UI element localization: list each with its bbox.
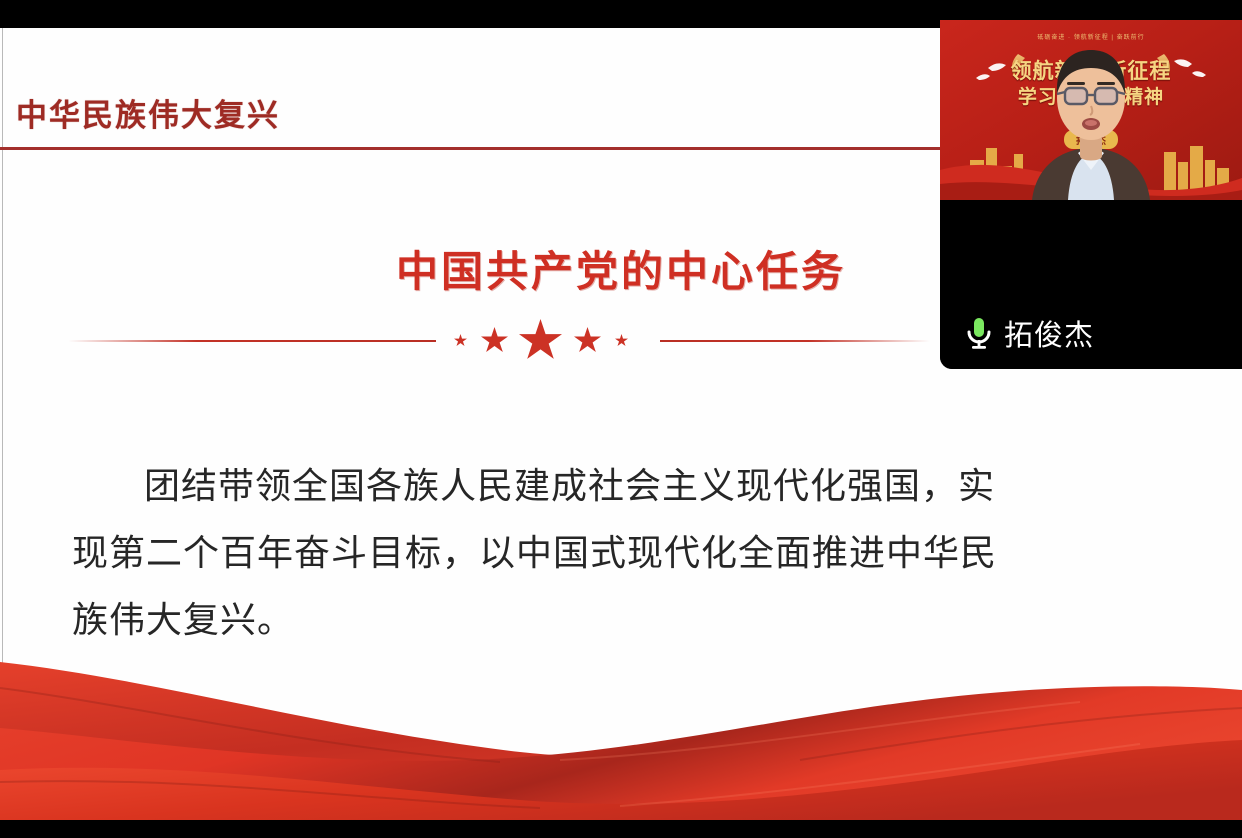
- divider-star-4: [574, 327, 601, 354]
- divider-star-5: [615, 334, 628, 347]
- video-feed: 砥砺奋进 · 领航新征程 | 奋跃前行 领航新 进新征程 学习贯 十大精神 拓俊…: [940, 20, 1242, 200]
- divider-line-right: [660, 340, 930, 342]
- microphone-active-icon[interactable]: [966, 316, 992, 350]
- participant-video-tile[interactable]: 砥砺奋进 · 领航新征程 | 奋跃前行 领航新 进新征程 学习贯 十大精神 拓俊…: [940, 0, 1242, 369]
- divider-star-3: [519, 319, 562, 362]
- divider-star-1: [454, 334, 467, 347]
- divider-line-left: [68, 340, 436, 342]
- participant-name-plate[interactable]: 拓俊杰: [940, 297, 1242, 369]
- red-ribbon-wave-decoration: [0, 610, 1242, 820]
- person-speaking-icon: [940, 20, 1242, 200]
- divider-star-2: [481, 327, 508, 354]
- slide-header-title: 中华民族伟大复兴: [16, 90, 280, 135]
- participant-name-label: 拓俊杰: [1004, 312, 1094, 354]
- screen-share-viewport: 中华民族伟大复兴: [0, 0, 1242, 838]
